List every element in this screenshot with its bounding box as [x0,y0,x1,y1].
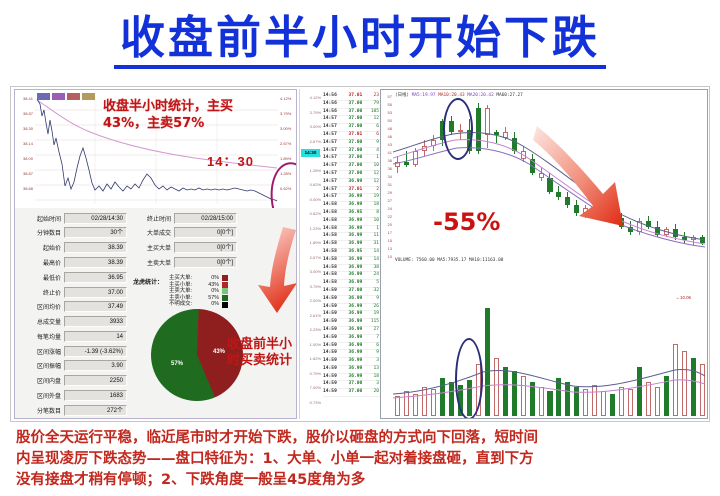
stat-left-label: 区间外盘 [19,391,64,400]
tick-row[interactable]: 14:5836.9931 [323,241,380,249]
kline-ytick-20: 10 [381,254,393,262]
tick-time: 14:59 [323,304,343,311]
tick-time: 14:58 [323,272,343,279]
stat-left-value: 38.39 [64,242,127,253]
tick-row[interactable]: 14:5936.99115 [323,319,380,327]
stat-left-row: 起始时间02/28/14:30 [19,211,127,225]
legend-percent: 0% [203,275,219,282]
stat-right-row: 终止时间02/28/15:00 [129,211,237,225]
tick-row[interactable]: 14:5936.9919 [323,311,380,319]
annotation-halfhour-line1: 收盘前半小 [227,336,297,352]
tick-row[interactable]: 14:5736.9912 [323,179,380,187]
tick-volume: 9 [364,140,380,147]
tick-price: 36.99 [343,350,365,357]
tick-volume: 14 [364,257,380,264]
stat-left-value: 38.39 [64,257,127,268]
tick-volume: 12 [364,116,380,123]
stat-right-label: 主卖大单 [129,258,174,267]
annotation-time-1430: 14：30 [207,151,254,170]
statistics-table-right-column: 终止时间02/28/15:00大单成交0[0个]主买大单0[0个]主卖大单0[0… [129,211,237,270]
legend-percent: 0% [203,288,219,295]
tick-selected-time-highlight[interactable]: 14:30 [301,149,320,157]
kline-ytick-14: 24 [381,206,393,214]
tick-row[interactable]: 14:5936.993 [323,358,380,366]
stat-right-value: 0[0个] [174,257,237,268]
tick-time: 14:57 [323,148,343,155]
tick-price: 36.99 [343,194,365,201]
pie-label-sell: 57% [171,361,183,367]
tick-volume: 24 [364,272,380,279]
legend-swatch-icon [222,302,228,308]
tick-time: 14:58 [323,233,343,240]
stat-left-value: 02/28/14:30 [64,213,127,224]
stat-left-value: 30个 [64,227,127,238]
tick-price: 36.99 [343,233,365,240]
volume-area [393,266,705,416]
footer-line-1: 股价全天运行平稳，临近尾市时才开始下跌，股价以砸盘的方式向下回落，短时间 [16,428,704,449]
tick-mini-tick: 0.62% [310,211,321,216]
kline-ytick-19: 13 [381,246,393,254]
stat-left-label: 起始价 [19,243,64,252]
legend-row: 主卖大单:0% [169,288,228,295]
kline-ytick-12: 29 [381,190,393,198]
tick-volume: 6 [364,132,380,139]
kline-ytick-5: 46 [381,134,393,142]
kline-ytick-6: 43 [381,142,393,150]
kline-ytick-9: 36 [381,166,393,174]
legend-percent: 43% [203,282,219,289]
stat-left-row: 终止价37.00 [19,285,127,299]
tick-price: 37.01 [343,187,365,194]
tick-volume: 105 [364,109,380,116]
tick-price: 37.00 [343,155,365,162]
tick-time: 14:59 [323,296,343,303]
tick-volume: 20 [364,389,380,396]
stat-left-label: 区间内盘 [19,376,64,385]
footer-description: 股价全天运行平稳，临近尾市时才开始下跌，股价以砸盘的方式向下回落，短时间 内呈现… [0,428,720,491]
stat-right-label: 主买大单 [129,243,174,252]
tick-time: 14:56 [323,93,343,100]
stat-left-label: 最高价 [19,258,64,267]
stat-right-row: 大单成交0[0个] [129,226,237,240]
page-title: 收盘前半小时开始下跌 [114,15,606,69]
stat-left-value: 3.90 [64,360,127,371]
tick-price: 37.00 [343,148,365,155]
chart-toolbar-badges[interactable] [37,93,95,100]
tick-volume: 19 [364,194,380,201]
tick-volume: 23 [364,93,380,100]
stat-right-value: 0[0个] [174,227,237,238]
tick-time: 14:59 [323,374,343,381]
tick-time: 14:59 [323,335,343,342]
tick-volume: 18 [364,202,380,209]
stat-right-value: 02/28/15:00 [174,213,237,224]
tick-price: 36.99 [343,265,365,272]
tick-mini-tick: 1.28% [310,168,321,173]
tick-price: 37.00 [343,109,365,116]
tick-volume: 19 [364,311,380,318]
tick-time: 14:57 [323,140,343,147]
kline-ytick-10: 34 [381,174,393,182]
kline-y-axis: 5755535048464341383634312927242220171513… [381,94,393,418]
tick-row[interactable]: 14:5836.9910 [323,218,380,226]
tick-price: 37.00 [343,124,365,131]
tick-volume: 5 [364,280,380,287]
tick-volume: 9 [364,350,380,357]
tick-volume: 9 [364,296,380,303]
tick-price: 37.01 [343,93,365,100]
tick-row[interactable]: 14:5737.0010 [323,163,380,171]
tick-rows-container[interactable]: 14:5637.012314:5637.007914:5637.0010514:… [323,93,380,397]
tick-time: 14:59 [323,319,343,326]
highlight-ellipse-navy-price [443,98,473,160]
tick-mini-tick: 0.79% [310,371,321,376]
legend-swatch-icon [222,295,228,301]
tick-price: 36.99 [343,304,365,311]
legend-row: 主买大单:0% [169,275,228,282]
tick-time: 14:58 [323,265,343,272]
tick-mini-tick: 0.73% [310,400,321,405]
tick-price: 36.99 [343,241,365,248]
tick-mini-tick: 0.62% [310,182,321,187]
tick-time: 14:57 [323,179,343,186]
tick-time: 14:58 [323,218,343,225]
tick-mini-tick: 3.79% [310,110,321,115]
tick-time: 14:57 [323,163,343,170]
tick-time: 14:56 [323,101,343,108]
tick-time: 14:57 [323,171,343,178]
annotation-stat-line2: 43%，主卖57% [103,115,291,132]
tick-price: 36.99 [343,257,365,264]
tick-volume: 10 [364,218,380,225]
stat-left-value: 37.00 [64,287,127,298]
stat-left-label: 最低价 [19,273,64,282]
tick-row[interactable]: 14:5737.009 [323,140,380,148]
tick-row[interactable]: 14:5937.0032 [323,288,380,296]
stat-right-label: 终止时间 [129,214,174,223]
last-price-tag: ←10.06 [676,295,691,300]
arrow-down-red-right [531,120,641,240]
statistics-table-left-column: 起始时间02/28/14:30分钟数目30个起始价38.39最高价38.39最低… [19,211,127,418]
tick-volume: 32 [364,288,380,295]
tick-volume: 115 [364,319,380,326]
tick-time: 14:59 [323,343,343,350]
tick-volume: 10 [364,163,380,170]
tick-time: 14:59 [323,288,343,295]
tick-row[interactable]: 14:5836.9911 [323,233,380,241]
stat-left-label: 区间振幅 [19,361,64,370]
tick-row[interactable]: 14:5737.006 [323,124,380,132]
stat-left-value: 272个 [64,405,127,416]
stat-left-label: 起始时间 [19,214,64,223]
tick-price: 37.00 [343,116,365,123]
tick-mini-tick: 2.23% [310,327,321,332]
tick-price: 36.99 [343,272,365,279]
tick-mini-tick: 2.67% [310,139,321,144]
volume-header-label: VOLUME: 7560.00 MA5:7935.17 MA10:11163.0… [395,258,503,263]
tick-time: 14:56 [323,109,343,116]
tick-price: 36.95 [343,249,365,256]
tick-mini-tick: 2.61% [310,313,321,318]
tick-price: 36.95 [343,210,365,217]
tick-volume: 18 [364,374,380,381]
kline-ytick-3: 50 [381,118,393,126]
annotation-halfhour-line2: 时买卖统计 [227,352,297,368]
pie-label-buy: 43% [213,349,225,355]
tick-row[interactable]: 14:5936.9927 [323,327,380,335]
stat-left-row: 区间内盘2250 [19,374,127,388]
daily-kline-panel[interactable]: (日线) MA5:19.97 MA10:20.43 MA20:20.42 MA6… [380,89,708,419]
tick-row[interactable]: 14:5936.997 [323,335,380,343]
tick-row[interactable]: 14:5836.9914 [323,257,380,265]
tick-mini-tick: 1.89% [310,240,321,245]
kline-ytick-15: 22 [381,214,393,222]
tick-row[interactable]: 14:5937.0020 [323,389,380,397]
tick-price: 37.00 [343,140,365,147]
tick-mini-tick: 1.00% [310,342,321,347]
tick-price: 36.99 [343,358,365,365]
tick-price: 36.99 [343,311,365,318]
stat-left-value: -1.39 (-3.62%) [64,346,127,357]
tick-volume: 8 [364,210,380,217]
tick-row[interactable]: 14:5936.9913 [323,366,380,374]
legend-row: 不明成交:0% [169,301,228,308]
tick-row[interactable]: 14:5936.999 [323,350,380,358]
legend-name: 不明成交: [169,301,203,308]
stat-left-row: 分钟数目30个 [19,226,127,240]
dragon-tiger-title: 龙虎统计： [133,277,163,286]
tick-row[interactable]: 14:5737.016 [323,132,380,140]
tick-volume: 12 [364,171,380,178]
tick-volume: 4 [364,148,380,155]
kline-ytick-2: 53 [381,110,393,118]
tick-price: 36.99 [343,218,365,225]
tick-price: 37.00 [343,101,365,108]
tick-volume: 6 [364,343,380,350]
screenshot-frame: 38.4138.8738.3038.1438.0038.8738.68 4.12… [10,86,710,422]
tick-time: 14:58 [323,210,343,217]
tick-volume: 1 [364,155,380,162]
stat-left-row: 分笔数目272个 [19,403,127,417]
tick-time: 14:59 [323,366,343,373]
kline-ytick-8: 38 [381,158,393,166]
stat-left-value: 36.95 [64,272,127,283]
tick-time: 14:59 [323,327,343,334]
tick-price: 36.99 [343,335,365,342]
tick-row[interactable]: 14:5936.999 [323,296,380,304]
tick-trade-list-panel[interactable]: 4.12%3.79%3.00%2.67%1.89%1.28%0.62%0.00%… [299,89,380,419]
stat-left-label: 分钟数目 [19,228,64,237]
stat-right-row: 主买大单0[0个] [129,241,237,255]
tick-volume: 14 [364,249,380,256]
kline-ytick-1: 55 [381,102,393,110]
tick-row[interactable]: 14:5737.001 [323,155,380,163]
legend-percent: 57% [203,295,219,302]
stat-left-row: 区间均价37.49 [19,300,127,314]
tick-mini-tick: 2.67% [310,255,321,260]
highlight-ellipse-navy-volume [455,338,483,419]
legend-name: 主卖大单: [169,288,203,295]
tick-volume: 6 [364,124,380,131]
tick-price: 37.00 [343,288,365,295]
tick-time: 14:57 [323,116,343,123]
tick-time: 14:59 [323,311,343,318]
tick-time: 14:58 [323,202,343,209]
tick-row[interactable]: 14:5836.9514 [323,249,380,257]
tick-time: 14:57 [323,187,343,194]
tick-price: 37.00 [343,381,365,388]
tick-price: 36.99 [343,366,365,373]
stat-left-row: 每笔均量14 [19,329,127,343]
tick-time: 14:58 [323,226,343,233]
dragon-tiger-legend: 主买大单:0%主买小单:43%主卖大单:0%主卖小单:57%不明成交:0% [169,275,228,308]
stat-left-label: 区间涨幅 [19,347,64,356]
tick-time: 14:58 [323,241,343,248]
legend-swatch-icon [222,288,228,294]
tick-mini-tick: 0.00% [310,197,321,202]
tick-time: 14:59 [323,389,343,396]
tick-time: 14:58 [323,257,343,264]
tick-mini-tick: 3.00% [310,269,321,274]
tick-volume: 38 [364,265,380,272]
tick-mini-axis: 4.12%3.79%3.00%2.67%1.89%1.28%0.62%0.00%… [300,89,322,419]
tick-price: 37.01 [343,132,365,139]
page-title-bar: 收盘前半小时开始下跌 [0,0,720,84]
tick-price: 37.00 [343,389,365,396]
tick-mini-tick: 3.79% [310,284,321,289]
tick-volume: 2 [364,187,380,194]
tick-row[interactable]: 14:5836.9918 [323,202,380,210]
tick-row[interactable]: 14:5737.0012 [323,171,380,179]
legend-swatch-icon [222,282,228,288]
legend-swatch-icon [222,275,228,281]
tick-row[interactable]: 14:5736.9919 [323,194,380,202]
intraday-price-chart[interactable]: 38.4138.8738.3038.1438.0038.8738.68 4.12… [15,90,296,208]
kline-ytick-17: 17 [381,230,393,238]
stat-left-value: 2250 [64,375,127,386]
kline-ytick-13: 27 [381,198,393,206]
tick-time: 14:57 [323,132,343,139]
tick-price: 37.00 [343,163,365,170]
tick-price: 37.00 [343,171,365,178]
stat-left-value: 37.49 [64,301,127,312]
tick-price: 36.99 [343,179,365,186]
chart-badge-1[interactable] [52,93,65,100]
tick-volume: 7 [364,335,380,342]
kline-ytick-4: 48 [381,126,393,134]
annotation-half-hour-buysell: 收盘前半小 时买卖统计 [227,336,297,368]
tick-price: 36.99 [343,374,365,381]
chart-badge-0[interactable] [37,93,50,100]
tick-mini-tick: 1.23% [310,226,321,231]
stat-left-row: 区间外盘1683 [19,388,127,402]
stat-left-row: 总成交量3933 [19,314,127,328]
kline-ytick-0: 57 [381,94,393,102]
stat-left-label: 终止价 [19,288,64,297]
tick-volume: 79 [364,101,380,108]
footer-line-2: 内呈现凌厉下跌态势——盘口特征为：1、大单、小单一起对着接盘砸，直到下方 [16,449,704,470]
tick-mini-tick: 3.00% [310,124,321,129]
tick-volume: 3 [364,381,380,388]
footer-line-3: 没有接盘才稍有停顿；2、下跌角度一般呈45度角为多 [16,470,704,491]
tick-price: 36.99 [343,202,365,209]
annotation-close-half-hour-stats: 收盘半小时统计，主买 43%，主卖57% [103,98,291,132]
tick-row[interactable]: 14:5637.0123 [323,93,380,101]
kline-ytick-18: 15 [381,238,393,246]
tick-time: 14:57 [323,124,343,131]
chart-badge-2[interactable] [67,93,80,100]
stat-right-value: 0[0个] [174,242,237,253]
kline-ytick-11: 31 [381,182,393,190]
tick-row[interactable]: 14:5836.995 [323,280,380,288]
tick-volume: 12 [364,179,380,186]
stat-left-label: 分笔数目 [19,406,64,415]
stat-left-label: 总成交量 [19,317,64,326]
stat-left-value: 3933 [64,316,127,327]
stat-left-row: 最低价36.95 [19,270,127,284]
tick-time: 14:59 [323,350,343,357]
tick-volume: 1 [364,226,380,233]
tick-volume: 11 [364,233,380,240]
stat-right-row: 主卖大单0[0个] [129,255,237,269]
tick-row[interactable]: 14:5836.9924 [323,272,380,280]
tick-mini-tick: 1.62% [310,356,321,361]
legend-percent: 0% [203,301,219,308]
tick-row[interactable]: 14:5836.958 [323,210,380,218]
tick-mini-tick: 7.00% [310,385,321,390]
stat-left-label: 每笔均量 [19,332,64,341]
tick-row[interactable]: 14:5637.0079 [323,101,380,109]
tick-mini-tick: 2.00% [310,298,321,303]
tick-time: 14:58 [323,249,343,256]
tick-price: 36.99 [343,296,365,303]
stat-left-row: 区间振幅3.90 [19,359,127,373]
annotation-stat-line1: 收盘半小时统计，主买 [103,98,291,115]
stat-right-label: 大单成交 [129,228,174,237]
arrow-down-red-left [253,225,297,315]
tick-price: 36.99 [343,319,365,326]
legend-name: 主买大单: [169,275,203,282]
tick-time: 14:59 [323,358,343,365]
tick-time: 14:57 [323,155,343,162]
tick-volume: 27 [364,327,380,334]
stat-left-label: 区间均价 [19,302,64,311]
tick-time: 14:57 [323,194,343,201]
tick-volume: 31 [364,241,380,248]
tick-mini-tick: 4.12% [310,95,321,100]
chart-badge-3[interactable] [82,93,95,100]
tick-time: 14:58 [323,280,343,287]
tick-price: 36.99 [343,226,365,233]
stat-left-row: 起始价38.39 [19,241,127,255]
volume-ma-lines [393,266,705,416]
kline-ytick-16: 20 [381,222,393,230]
stat-left-value: 14 [64,331,127,342]
annotation-drop-percent: -55% [433,208,500,236]
tick-volume: 26 [364,304,380,311]
stat-left-row: 区间涨幅-1.39 (-3.62%) [19,344,127,358]
stat-left-row: 最高价38.39 [19,255,127,269]
tick-price: 36.99 [343,343,365,350]
intraday-statistics-panel: 38.4138.8738.3038.1438.0038.8738.68 4.12… [14,89,297,419]
tick-volume: 3 [364,358,380,365]
tick-price: 36.99 [343,327,365,334]
tick-time: 14:59 [323,381,343,388]
kline-ytick-7: 41 [381,150,393,158]
stat-left-value: 1683 [64,390,127,401]
tick-price: 36.99 [343,280,365,287]
tick-volume: 13 [364,366,380,373]
